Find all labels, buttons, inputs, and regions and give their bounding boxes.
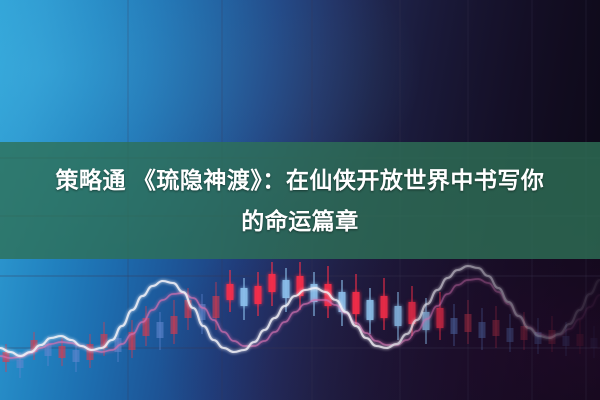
title-line-2: 的命运篇章 — [241, 201, 359, 242]
title-banner: 策略通 《琉隐神渡》：在仙侠开放世界中书写你 的命运篇章 — [0, 142, 600, 259]
chart-candles — [3, 262, 598, 378]
promo-banner-image: 策略通 《琉隐神渡》：在仙侠开放世界中书写你 的命运篇章 — [0, 0, 600, 400]
title-line-1: 策略通 《琉隐神渡》：在仙侠开放世界中书写你 — [56, 160, 545, 201]
